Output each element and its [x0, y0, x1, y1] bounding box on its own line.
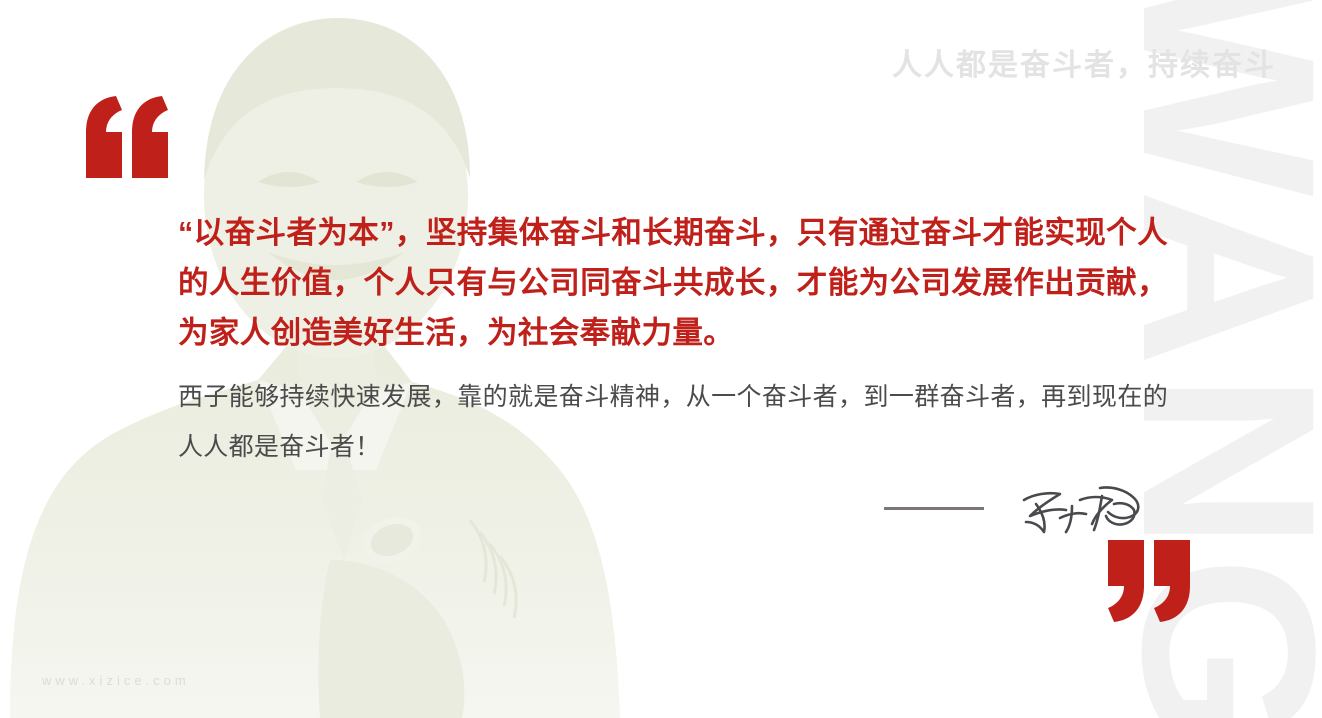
attribution [884, 478, 1148, 538]
attribution-dash [884, 507, 984, 510]
quote-main-text: “以奋斗者为本”，坚持集体奋斗和长期奋斗，只有通过奋斗才能实现个人的人生价值，个… [178, 208, 1168, 358]
footer-url: www.xizice.com [42, 673, 190, 688]
slide-canvas: WANG 人人都是奋斗者，持续奋斗 “以奋斗者为本”，坚持集体奋斗和长期奋斗，只… [0, 0, 1322, 718]
quote-close-icon [1104, 540, 1192, 622]
quote-sub-text: 西子能够持续快速发展，靠的就是奋斗精神，从一个奋斗者，到一群奋斗者，再到现在的人… [178, 372, 1168, 472]
quote-content: “以奋斗者为本”，坚持集体奋斗和长期奋斗，只有通过奋斗才能实现个人的人生价值，个… [178, 208, 1168, 472]
quote-open-icon [82, 96, 170, 178]
signature-image [1016, 478, 1148, 538]
page-title: 人人都是奋斗者，持续奋斗 [892, 40, 1276, 84]
